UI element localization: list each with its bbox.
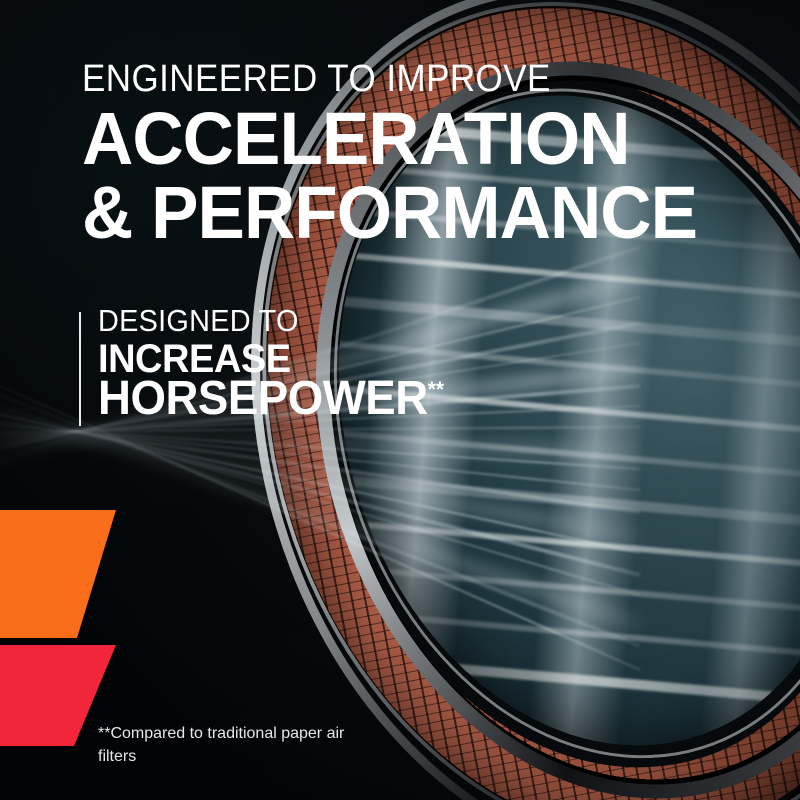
- footnote-marker: **: [428, 377, 444, 402]
- headline-line-2: & PERFORMANCE: [82, 176, 697, 250]
- headline-line-1: ACCELERATION: [82, 102, 630, 176]
- headline-kicker: ENGINEERED TO IMPROVE: [82, 60, 551, 98]
- subhead-kicker: DESIGNED TO: [98, 305, 299, 336]
- subhead-vertical-rule: [79, 312, 81, 426]
- promo-banner: ENGINEERED TO IMPROVE ACCELERATION & PER…: [0, 0, 800, 800]
- footnote-text: **Compared to traditional paper air filt…: [98, 722, 358, 768]
- subhead-line-2: HORSEPOWER**: [98, 375, 444, 423]
- subhead-line-2-text: HORSEPOWER: [98, 372, 428, 425]
